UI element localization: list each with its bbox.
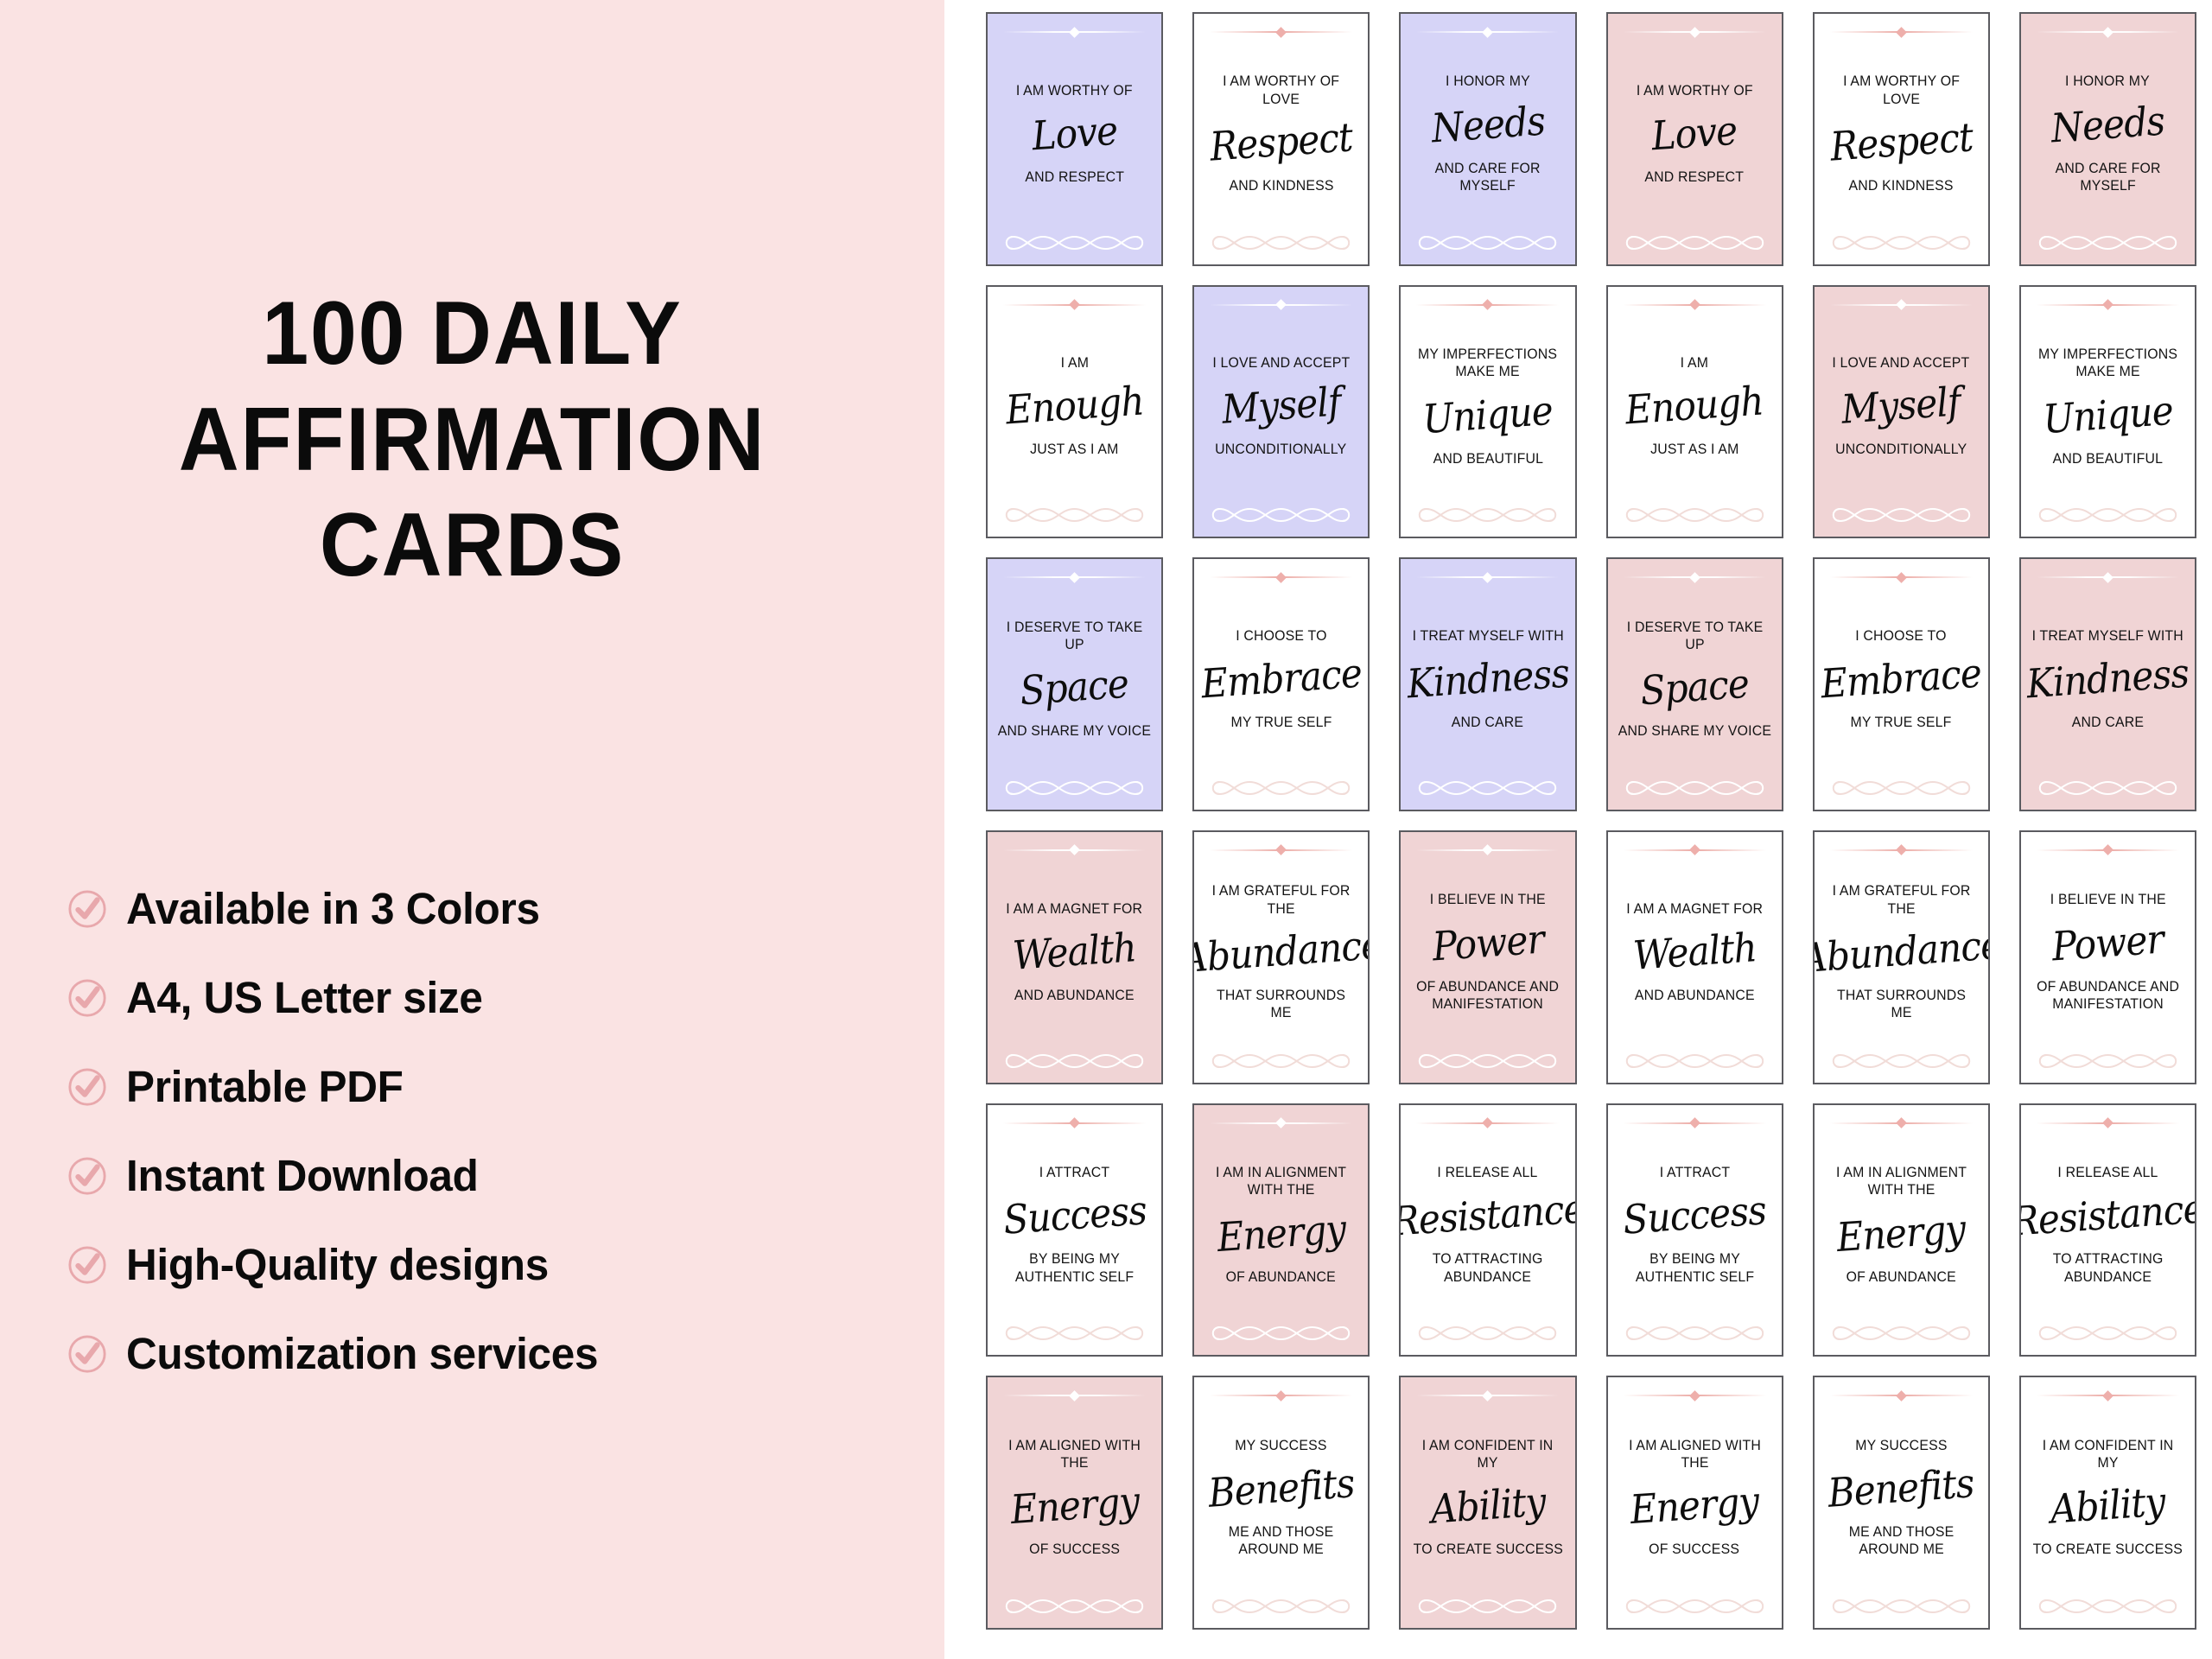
card-top-text: I AM WORTHY OF LOVE	[1205, 73, 1358, 108]
affirmation-card[interactable]: I AM ALIGNED WITH THEEnergyOF SUCCESS	[986, 1376, 1163, 1630]
card-body: I AM WORTHY OFLoveAND RESPECT	[988, 38, 1161, 228]
filigree-flourish-icon	[1000, 1046, 1149, 1076]
diamond-divider-icon	[1210, 299, 1352, 311]
affirmation-card[interactable]: I AM WORTHY OFLoveAND RESPECT	[1606, 12, 1783, 266]
card-script-word: Energy	[1008, 1472, 1141, 1540]
affirmation-card[interactable]: I AMEnoughJUST AS I AM	[986, 285, 1163, 539]
card-top-text: I AM IN ALIGNMENT WITH THE	[1824, 1164, 1978, 1199]
card-bottom-text: AND CARE FOR MYSELF	[2031, 160, 2185, 195]
affirmation-card[interactable]: I HONOR MYNeedsAND CARE FOR MYSELF	[1399, 12, 1576, 266]
diamond-divider-icon	[1416, 1117, 1559, 1129]
card-body: I HONOR MYNeedsAND CARE FOR MYSELF	[2021, 38, 2195, 228]
card-bottom-text: MY TRUE SELF	[1230, 714, 1332, 731]
diamond-divider-icon	[2037, 844, 2179, 856]
card-body: I BELIEVE IN THEPowerOF ABUNDANCE AND MA…	[2021, 856, 2195, 1046]
feature-item: Printable PDF	[67, 1042, 914, 1131]
card-bottom-text: BY BEING MY AUTHENTIC SELF	[1618, 1250, 1771, 1286]
filigree-flourish-icon	[1413, 1592, 1562, 1621]
diamond-divider-icon	[1830, 571, 1973, 583]
diamond-divider-icon	[1830, 844, 1973, 856]
card-bottom-text: AND ABUNDANCE	[1635, 987, 1755, 1004]
card-top-text: I LOVE AND ACCEPT	[1833, 354, 1970, 372]
card-body: I AM CONFIDENT IN MYAbilityTO CREATE SUC…	[2021, 1402, 2195, 1592]
check-circle-icon	[67, 1245, 107, 1285]
card-script-word: Resistance	[1399, 1180, 1576, 1252]
diamond-divider-icon	[1416, 26, 1559, 38]
card-top-text: I HONOR MY	[1446, 73, 1530, 90]
headline-line-2: AFFIRMATION	[81, 387, 863, 493]
card-script-word: Success	[1621, 1182, 1768, 1250]
filigree-flourish-icon	[1206, 1046, 1356, 1076]
card-top-text: I TREAT MYSELF WITH	[2032, 627, 2183, 645]
card-top-text: MY IMPERFECTIONS MAKE ME	[1411, 346, 1565, 381]
card-top-text: I AM IN ALIGNMENT WITH THE	[1205, 1164, 1358, 1199]
card-top-text: I AM	[1060, 354, 1088, 372]
diamond-divider-icon	[1624, 26, 1766, 38]
filigree-flourish-icon	[1206, 1319, 1356, 1348]
feature-item: Customization services	[67, 1309, 914, 1398]
affirmation-card[interactable]: I AM ALIGNED WITH THEEnergyOF SUCCESS	[1606, 1376, 1783, 1630]
card-bottom-text: OF ABUNDANCE	[1226, 1268, 1336, 1286]
card-bottom-text: AND SHARE MY VOICE	[1618, 722, 1770, 740]
diamond-divider-icon	[1830, 1389, 1973, 1402]
card-bottom-text: OF ABUNDANCE AND MANIFESTATION	[2031, 978, 2185, 1014]
affirmation-card[interactable]: I DESERVE TO TAKE UPSpaceAND SHARE MY VO…	[1606, 557, 1783, 811]
card-body: I DESERVE TO TAKE UPSpaceAND SHARE MY VO…	[1608, 583, 1782, 773]
affirmation-card[interactable]: I ATTRACTSuccessBY BEING MY AUTHENTIC SE…	[1606, 1103, 1783, 1357]
card-top-text: I AM CONFIDENT IN MY	[1411, 1437, 1565, 1472]
card-script-word: Space	[1638, 655, 1751, 721]
filigree-flourish-icon	[1413, 1046, 1562, 1076]
diamond-divider-icon	[1624, 1117, 1766, 1129]
diamond-divider-icon	[1210, 1389, 1352, 1402]
card-body: I TREAT MYSELF WITHKindnessAND CARE	[1401, 583, 1574, 773]
card-top-text: I AM ALIGNED WITH THE	[1618, 1437, 1771, 1472]
check-circle-icon	[67, 978, 107, 1018]
card-top-text: I AM	[1681, 354, 1708, 372]
diamond-divider-icon	[1210, 844, 1352, 856]
promo-graphic: 100 DAILY AFFIRMATION CARDS Available in…	[0, 0, 2212, 1659]
card-bottom-text: AND CARE FOR MYSELF	[1411, 160, 1565, 195]
check-circle-icon	[67, 889, 107, 929]
card-top-text: I AM WORTHY OF	[1637, 82, 1753, 99]
filigree-flourish-icon	[1206, 1592, 1356, 1621]
affirmation-card[interactable]: I CHOOSE TOEmbraceMY TRUE SELF	[1813, 557, 1990, 811]
filigree-flourish-icon	[1827, 500, 1976, 530]
card-bottom-text: AND RESPECT	[1025, 168, 1124, 186]
card-top-text: I RELEASE ALL	[1438, 1164, 1538, 1181]
diamond-divider-icon	[1830, 26, 1973, 38]
card-top-text: I RELEASE ALL	[2057, 1164, 2158, 1181]
feature-item: A4, US Letter size	[67, 953, 914, 1042]
card-body: I TREAT MYSELF WITHKindnessAND CARE	[2021, 583, 2195, 773]
check-circle-icon	[67, 1156, 107, 1196]
card-script-word: Love	[1649, 101, 1738, 166]
card-script-word: Abundance	[1813, 916, 1990, 988]
feature-item: Instant Download	[67, 1131, 914, 1220]
diamond-divider-icon	[1210, 1117, 1352, 1129]
card-bottom-text: ME AND THOSE AROUND ME	[1205, 1523, 1358, 1559]
card-script-word: Space	[1019, 655, 1131, 721]
filigree-flourish-icon	[2033, 773, 2183, 803]
diamond-divider-icon	[2037, 1389, 2179, 1402]
filigree-flourish-icon	[1206, 773, 1356, 803]
card-script-word: Respect	[1828, 108, 1974, 176]
diamond-divider-icon	[2037, 26, 2179, 38]
card-bottom-text: OF SUCCESS	[1649, 1541, 1740, 1558]
feature-label: Instant Download	[126, 1150, 479, 1201]
card-body: I AM A MAGNET FORWealthAND ABUNDANCE	[1608, 856, 1782, 1046]
card-bottom-text: AND SHARE MY VOICE	[998, 722, 1151, 740]
check-circle-icon	[67, 1067, 107, 1107]
card-script-word: Success	[1001, 1182, 1148, 1250]
card-script-word: Kindness	[2024, 645, 2190, 715]
filigree-flourish-icon	[1620, 1046, 1770, 1076]
filigree-flourish-icon	[1206, 228, 1356, 257]
affirmation-card[interactable]: I BELIEVE IN THEPowerOF ABUNDANCE AND MA…	[1399, 830, 1576, 1084]
affirmation-card[interactable]: I DESERVE TO TAKE UPSpaceAND SHARE MY VO…	[986, 557, 1163, 811]
diamond-divider-icon	[1624, 844, 1766, 856]
card-body: I RELEASE ALLResistanceTO ATTRACTING ABU…	[1401, 1129, 1574, 1319]
filigree-flourish-icon	[1827, 773, 1976, 803]
card-body: I AM A MAGNET FORWealthAND ABUNDANCE	[988, 856, 1161, 1046]
card-body: I ATTRACTSuccessBY BEING MY AUTHENTIC SE…	[1608, 1129, 1782, 1319]
diamond-divider-icon	[1003, 1389, 1146, 1402]
card-script-word: Wealth	[1011, 918, 1138, 986]
card-body: I ATTRACTSuccessBY BEING MY AUTHENTIC SE…	[988, 1129, 1161, 1319]
filigree-flourish-icon	[1000, 773, 1149, 803]
card-script-word: Benefits	[1206, 1454, 1356, 1523]
card-top-text: MY SUCCESS	[1855, 1437, 1947, 1454]
card-top-text: I LOVE AND ACCEPT	[1212, 354, 1350, 372]
affirmation-card[interactable]: I RELEASE ALLResistanceTO ATTRACTING ABU…	[1399, 1103, 1576, 1357]
diamond-divider-icon	[1416, 1389, 1559, 1402]
filigree-flourish-icon	[1620, 773, 1770, 803]
affirmation-card[interactable]: I HONOR MYNeedsAND CARE FOR MYSELF	[2019, 12, 2196, 266]
card-top-text: I HONOR MY	[2065, 73, 2150, 90]
card-bottom-text: MY TRUE SELF	[1851, 714, 1952, 731]
filigree-flourish-icon	[1000, 1319, 1149, 1348]
card-bottom-text: OF SUCCESS	[1029, 1541, 1120, 1558]
card-bottom-text: THAT SURROUNDS ME	[1205, 987, 1358, 1022]
card-script-word: Ability	[1428, 1473, 1547, 1540]
card-script-word: Unique	[2041, 381, 2175, 448]
card-bottom-text: AND RESPECT	[1645, 168, 1745, 186]
page-title: 100 DAILY AFFIRMATION CARDS	[0, 281, 944, 599]
card-top-text: I AM A MAGNET FOR	[1626, 900, 1763, 918]
card-body: I AM WORTHY OF LOVERespectAND KINDNESS	[1194, 38, 1368, 228]
affirmation-card[interactable]: MY SUCCESSBenefitsME AND THOSE AROUND ME	[1813, 1376, 1990, 1630]
filigree-flourish-icon	[1827, 1046, 1976, 1076]
diamond-divider-icon	[2037, 571, 2179, 583]
card-script-word: Power	[1430, 910, 1546, 976]
diamond-divider-icon	[1416, 299, 1559, 311]
card-script-word: Love	[1030, 101, 1119, 166]
diamond-divider-icon	[1003, 1117, 1146, 1129]
card-script-word: Needs	[2050, 92, 2167, 158]
card-bottom-text: ME AND THOSE AROUND ME	[1824, 1523, 1978, 1559]
feature-label: A4, US Letter size	[126, 972, 483, 1023]
affirmation-card[interactable]: MY IMPERFECTIONS MAKE MEUniqueAND BEAUTI…	[1399, 285, 1576, 539]
filigree-flourish-icon	[1413, 228, 1562, 257]
affirmation-card[interactable]: I AM CONFIDENT IN MYAbilityTO CREATE SUC…	[1399, 1376, 1576, 1630]
card-script-word: Unique	[1421, 381, 1555, 448]
card-bottom-text: TO CREATE SUCCESS	[1413, 1541, 1562, 1558]
card-script-word: Needs	[1429, 92, 1547, 158]
diamond-divider-icon	[1624, 1389, 1766, 1402]
filigree-flourish-icon	[2033, 1046, 2183, 1076]
card-body: MY IMPERFECTIONS MAKE MEUniqueAND BEAUTI…	[2021, 311, 2195, 501]
card-top-text: I AM GRATEFUL FOR THE	[1205, 882, 1358, 918]
card-top-text: I DESERVE TO TAKE UP	[998, 619, 1152, 654]
filigree-flourish-icon	[2033, 1592, 2183, 1621]
diamond-divider-icon	[1830, 1117, 1973, 1129]
affirmation-card[interactable]: I AM IN ALIGNMENT WITH THEEnergyOF ABUND…	[1813, 1103, 1990, 1357]
card-body: I CHOOSE TOEmbraceMY TRUE SELF	[1815, 583, 1988, 773]
diamond-divider-icon	[1210, 26, 1352, 38]
card-body: I AM IN ALIGNMENT WITH THEEnergyOF ABUND…	[1194, 1129, 1368, 1319]
feature-label: Customization services	[126, 1328, 598, 1379]
card-body: I BELIEVE IN THEPowerOF ABUNDANCE AND MA…	[1401, 856, 1574, 1046]
card-body: I AM GRATEFUL FOR THEAbundanceTHAT SURRO…	[1194, 856, 1368, 1046]
card-body: I AM GRATEFUL FOR THEAbundanceTHAT SURRO…	[1815, 856, 1988, 1046]
card-script-word: Enough	[1624, 372, 1765, 441]
card-script-word: Energy	[1215, 1200, 1347, 1268]
feature-item: High-Quality designs	[67, 1220, 914, 1309]
feature-label: Printable PDF	[126, 1061, 404, 1112]
card-top-text: I ATTRACT	[1039, 1164, 1110, 1181]
card-bottom-text: TO ATTRACTING ABUNDANCE	[1411, 1250, 1565, 1286]
card-top-text: I AM WORTHY OF	[1016, 82, 1133, 99]
affirmation-card[interactable]: I AM WORTHY OFLoveAND RESPECT	[986, 12, 1163, 266]
card-bottom-text: JUST AS I AM	[1030, 441, 1118, 458]
affirmation-card[interactable]: MY IMPERFECTIONS MAKE MEUniqueAND BEAUTI…	[2019, 285, 2196, 539]
card-body: I AM ALIGNED WITH THEEnergyOF SUCCESS	[988, 1402, 1161, 1592]
diamond-divider-icon	[1210, 571, 1352, 583]
card-script-word: Wealth	[1631, 918, 1758, 986]
affirmation-card[interactable]: I AM A MAGNET FORWealthAND ABUNDANCE	[986, 830, 1163, 1084]
card-bottom-text: AND KINDNESS	[1849, 177, 1954, 194]
affirmation-card-grid: I AM WORTHY OFLoveAND RESPECT I AM WORTH…	[986, 12, 2196, 1630]
affirmation-card[interactable]: I AM WORTHY OF LOVERespectAND KINDNESS	[1192, 12, 1370, 266]
feature-item: Available in 3 Colors	[67, 864, 914, 953]
diamond-divider-icon	[2037, 1117, 2179, 1129]
diamond-divider-icon	[1003, 844, 1146, 856]
affirmation-card[interactable]: I TREAT MYSELF WITHKindnessAND CARE	[1399, 557, 1576, 811]
feature-label: High-Quality designs	[126, 1239, 549, 1290]
card-bottom-text: AND BEAUTIFUL	[1433, 450, 1542, 467]
card-script-word: Benefits	[1827, 1454, 1976, 1523]
card-script-word: Energy	[1835, 1200, 1967, 1268]
filigree-flourish-icon	[2033, 228, 2183, 257]
card-body: I CHOOSE TOEmbraceMY TRUE SELF	[1194, 583, 1368, 773]
card-bottom-text: AND ABUNDANCE	[1014, 987, 1135, 1004]
card-preview-panel: I AM WORTHY OFLoveAND RESPECT I AM WORTH…	[944, 0, 2212, 1659]
card-top-text: I AM GRATEFUL FOR THE	[1824, 882, 1978, 918]
affirmation-card[interactable]: I TREAT MYSELF WITHKindnessAND CARE	[2019, 557, 2196, 811]
card-body: I LOVE AND ACCEPTMyselfUNCONDITIONALLY	[1194, 311, 1368, 501]
filigree-flourish-icon	[1827, 1319, 1976, 1348]
affirmation-card[interactable]: I AM GRATEFUL FOR THEAbundanceTHAT SURRO…	[1813, 830, 1990, 1084]
diamond-divider-icon	[1830, 299, 1973, 311]
affirmation-card[interactable]: I AM IN ALIGNMENT WITH THEEnergyOF ABUND…	[1192, 1103, 1370, 1357]
headline-line-3: CARDS	[81, 493, 863, 599]
filigree-flourish-icon	[1000, 228, 1149, 257]
card-bottom-text: OF ABUNDANCE AND MANIFESTATION	[1411, 978, 1565, 1014]
filigree-flourish-icon	[1413, 500, 1562, 530]
card-top-text: I AM A MAGNET FOR	[1007, 900, 1143, 918]
filigree-flourish-icon	[1827, 228, 1976, 257]
card-body: I AM WORTHY OFLoveAND RESPECT	[1608, 38, 1782, 228]
card-body: I RELEASE ALLResistanceTO ATTRACTING ABU…	[2021, 1129, 2195, 1319]
card-script-word: Myself	[1840, 373, 1962, 440]
card-bottom-text: AND CARE	[2072, 714, 2144, 731]
card-body: I AM CONFIDENT IN MYAbilityTO CREATE SUC…	[1401, 1402, 1574, 1592]
diamond-divider-icon	[2037, 299, 2179, 311]
affirmation-card[interactable]: I AM GRATEFUL FOR THEAbundanceTHAT SURRO…	[1192, 830, 1370, 1084]
card-top-text: I TREAT MYSELF WITH	[1412, 627, 1563, 645]
card-bottom-text: JUST AS I AM	[1650, 441, 1738, 458]
card-top-text: I AM CONFIDENT IN MY	[2031, 1437, 2185, 1472]
card-script-word: Myself	[1220, 373, 1343, 440]
filigree-flourish-icon	[1827, 1592, 1976, 1621]
affirmation-card[interactable]: I LOVE AND ACCEPTMyselfUNCONDITIONALLY	[1813, 285, 1990, 539]
affirmation-card[interactable]: I RELEASE ALLResistanceTO ATTRACTING ABU…	[2019, 1103, 2196, 1357]
card-top-text: I AM ALIGNED WITH THE	[998, 1437, 1152, 1472]
card-body: I HONOR MYNeedsAND CARE FOR MYSELF	[1401, 38, 1574, 228]
card-script-word: Embrace	[1819, 645, 1983, 715]
filigree-flourish-icon	[1620, 500, 1770, 530]
card-body: I AMEnoughJUST AS I AM	[988, 311, 1161, 501]
card-script-word: Kindness	[1405, 645, 1571, 715]
card-top-text: I ATTRACT	[1659, 1164, 1730, 1181]
affirmation-card[interactable]: I LOVE AND ACCEPTMyselfUNCONDITIONALLY	[1192, 285, 1370, 539]
card-top-text: MY IMPERFECTIONS MAKE ME	[2031, 346, 2185, 381]
left-info-panel: 100 DAILY AFFIRMATION CARDS Available in…	[0, 0, 944, 1659]
affirmation-card[interactable]: I CHOOSE TOEmbraceMY TRUE SELF	[1192, 557, 1370, 811]
diamond-divider-icon	[1416, 844, 1559, 856]
filigree-flourish-icon	[1620, 228, 1770, 257]
card-script-word: Enough	[1004, 372, 1146, 441]
headline-line-1: 100 DAILY	[81, 281, 863, 387]
card-script-word: Resistance	[2019, 1180, 2196, 1252]
card-script-word: Embrace	[1199, 645, 1363, 715]
affirmation-card[interactable]: I ATTRACTSuccessBY BEING MY AUTHENTIC SE…	[986, 1103, 1163, 1357]
card-top-text: MY SUCCESS	[1236, 1437, 1327, 1454]
card-script-word: Abundance	[1192, 916, 1370, 988]
card-bottom-text: BY BEING MY AUTHENTIC SELF	[998, 1250, 1152, 1286]
card-body: I AM WORTHY OF LOVERespectAND KINDNESS	[1815, 38, 1988, 228]
card-script-word: Power	[2050, 910, 2166, 976]
affirmation-card[interactable]: I BELIEVE IN THEPowerOF ABUNDANCE AND MA…	[2019, 830, 2196, 1084]
card-bottom-text: TO CREATE SUCCESS	[2033, 1541, 2183, 1558]
card-body: MY IMPERFECTIONS MAKE MEUniqueAND BEAUTI…	[1401, 311, 1574, 501]
diamond-divider-icon	[1003, 26, 1146, 38]
card-top-text: I BELIEVE IN THE	[1430, 891, 1546, 908]
card-body: I AMEnoughJUST AS I AM	[1608, 311, 1782, 501]
card-body: MY SUCCESSBenefitsME AND THOSE AROUND ME	[1194, 1402, 1368, 1592]
card-body: I LOVE AND ACCEPTMyselfUNCONDITIONALLY	[1815, 311, 1988, 501]
affirmation-card[interactable]: I AMEnoughJUST AS I AM	[1606, 285, 1783, 539]
affirmation-card[interactable]: I AM A MAGNET FORWealthAND ABUNDANCE	[1606, 830, 1783, 1084]
card-bottom-text: UNCONDITIONALLY	[1216, 441, 1347, 458]
card-top-text: I AM WORTHY OF LOVE	[1824, 73, 1978, 108]
filigree-flourish-icon	[1620, 1319, 1770, 1348]
card-top-text: I BELIEVE IN THE	[2050, 891, 2165, 908]
card-top-text: I CHOOSE TO	[1856, 627, 1947, 645]
filigree-flourish-icon	[1620, 1592, 1770, 1621]
feature-list: Available in 3 Colors A4, US Letter size…	[67, 864, 914, 1398]
diamond-divider-icon	[1416, 571, 1559, 583]
check-circle-icon	[67, 1334, 107, 1374]
filigree-flourish-icon	[1000, 500, 1149, 530]
card-body: I AM ALIGNED WITH THEEnergyOF SUCCESS	[1608, 1402, 1782, 1592]
card-top-text: I DESERVE TO TAKE UP	[1618, 619, 1771, 654]
diamond-divider-icon	[1624, 571, 1766, 583]
diamond-divider-icon	[1624, 299, 1766, 311]
card-bottom-text: THAT SURROUNDS ME	[1824, 987, 1978, 1022]
feature-label: Available in 3 Colors	[126, 883, 540, 934]
card-bottom-text: AND BEAUTIFUL	[2053, 450, 2163, 467]
filigree-flourish-icon	[1206, 500, 1356, 530]
filigree-flourish-icon	[2033, 1319, 2183, 1348]
diamond-divider-icon	[1003, 299, 1146, 311]
affirmation-card[interactable]: MY SUCCESSBenefitsME AND THOSE AROUND ME	[1192, 1376, 1370, 1630]
card-body: I DESERVE TO TAKE UPSpaceAND SHARE MY VO…	[988, 583, 1161, 773]
affirmation-card[interactable]: I AM WORTHY OF LOVERespectAND KINDNESS	[1813, 12, 1990, 266]
card-script-word: Ability	[2049, 1473, 2167, 1540]
card-bottom-text: AND CARE	[1452, 714, 1523, 731]
card-script-word: Respect	[1208, 108, 1354, 176]
card-bottom-text: UNCONDITIONALLY	[1835, 441, 1967, 458]
filigree-flourish-icon	[1413, 773, 1562, 803]
card-bottom-text: TO ATTRACTING ABUNDANCE	[2031, 1250, 2185, 1286]
card-bottom-text: AND KINDNESS	[1229, 177, 1333, 194]
filigree-flourish-icon	[1413, 1319, 1562, 1348]
filigree-flourish-icon	[2033, 500, 2183, 530]
filigree-flourish-icon	[1000, 1592, 1149, 1621]
card-bottom-text: OF ABUNDANCE	[1847, 1268, 1956, 1286]
card-body: MY SUCCESSBenefitsME AND THOSE AROUND ME	[1815, 1402, 1988, 1592]
diamond-divider-icon	[1003, 571, 1146, 583]
card-body: I AM IN ALIGNMENT WITH THEEnergyOF ABUND…	[1815, 1129, 1988, 1319]
affirmation-card[interactable]: I AM CONFIDENT IN MYAbilityTO CREATE SUC…	[2019, 1376, 2196, 1630]
card-top-text: I CHOOSE TO	[1236, 627, 1326, 645]
card-script-word: Energy	[1628, 1472, 1760, 1540]
